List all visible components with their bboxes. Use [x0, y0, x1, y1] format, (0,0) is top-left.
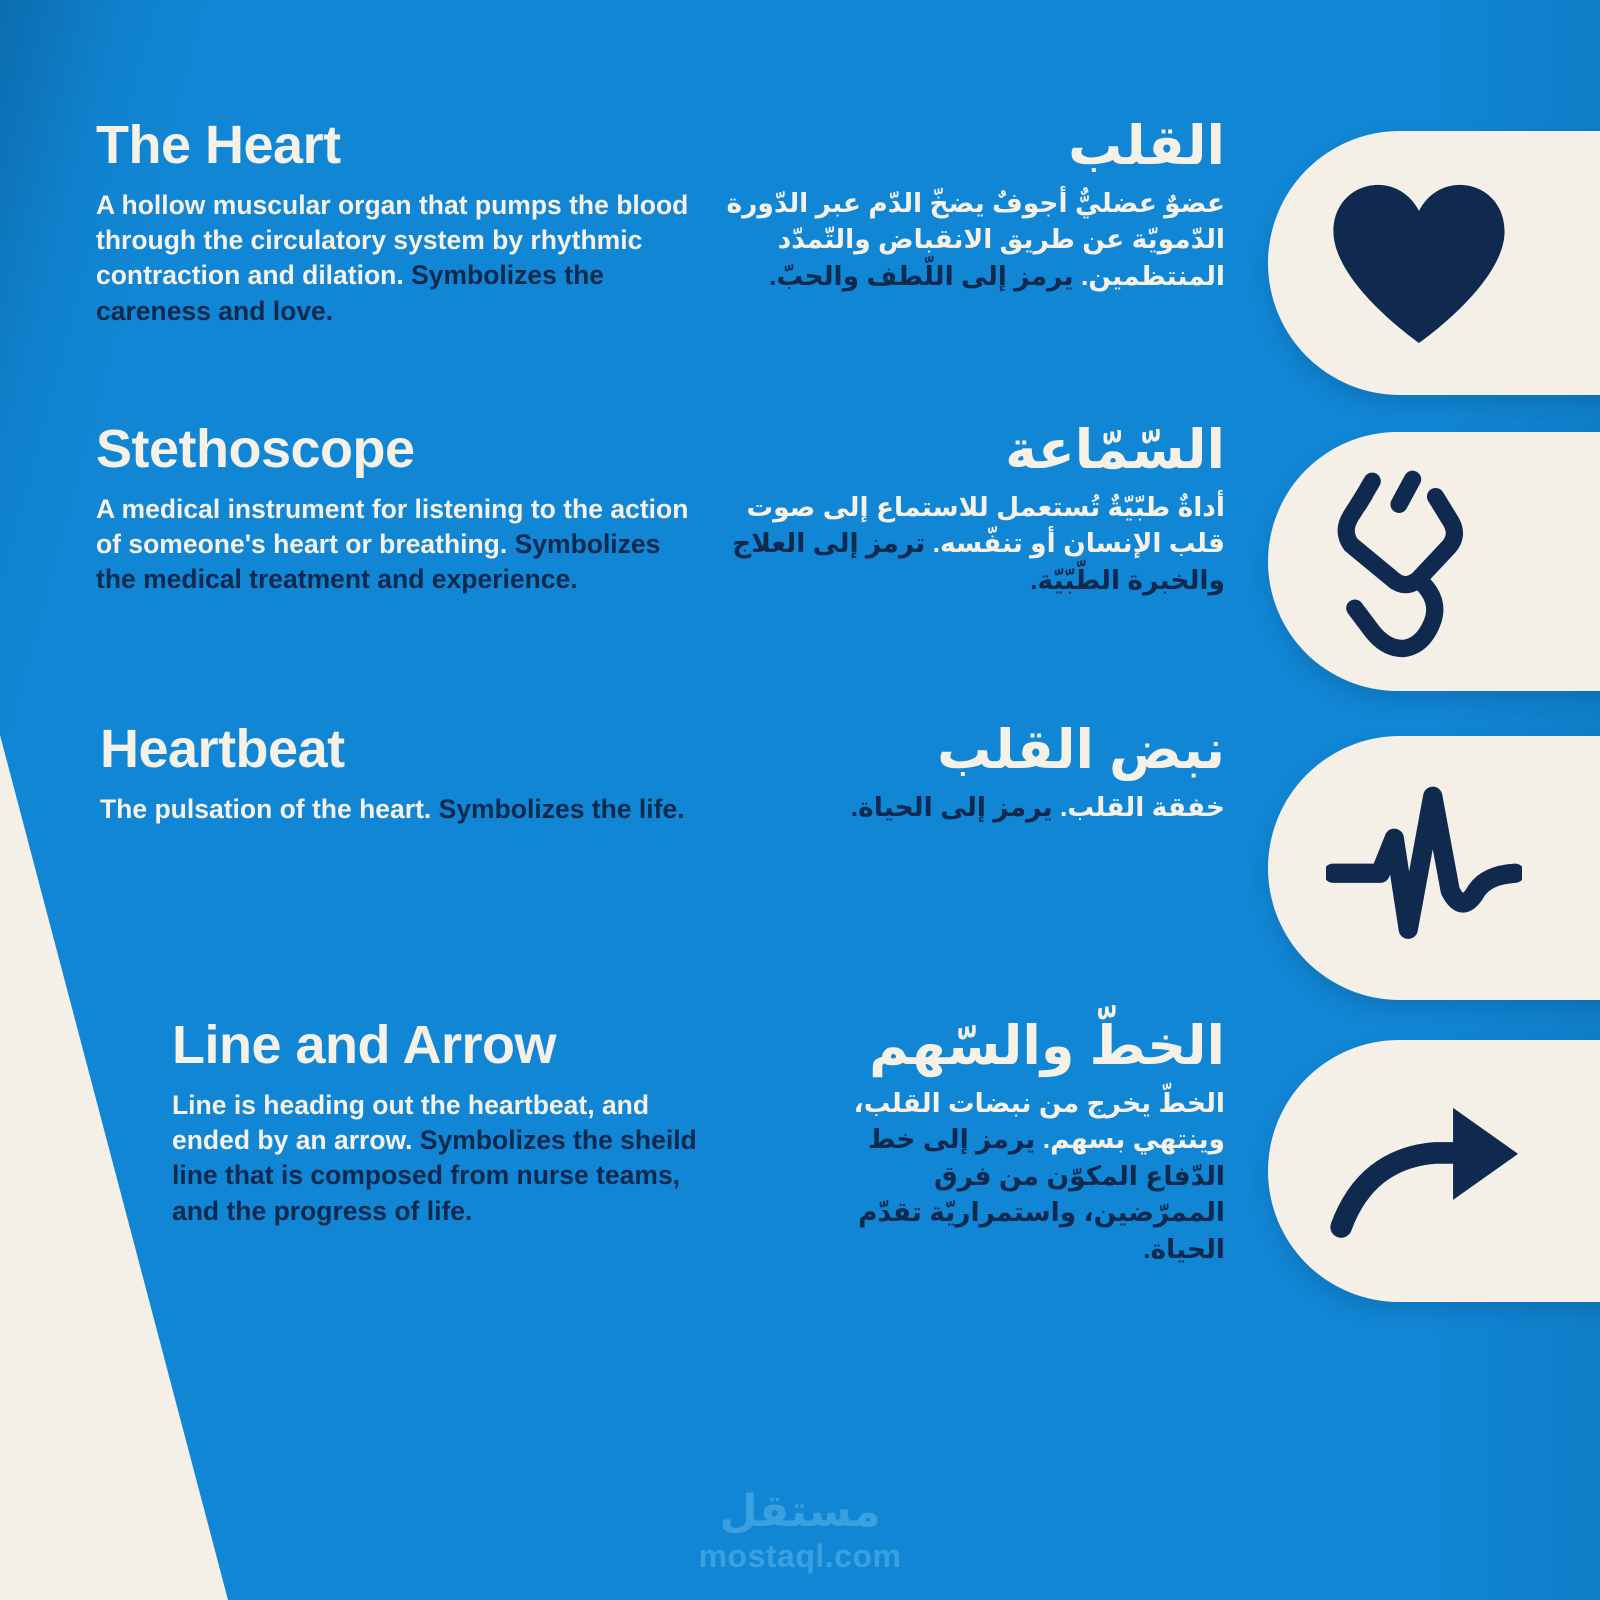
section-heart-ar: القلب عضوٌ عضليٌّ أجوفٌ يضخّ الدّم عبر ا…	[725, 118, 1225, 294]
heartbeat-icon	[1326, 782, 1522, 954]
icon-card-stethoscope	[1268, 432, 1600, 691]
heading-stethoscope: Stethoscope	[96, 422, 696, 476]
stethoscope-icon	[1326, 462, 1476, 662]
body-heartbeat-en: The pulsation of the heart. Symbolizes t…	[100, 792, 700, 827]
heading-the-heart-ar: القلب	[725, 118, 1225, 175]
section-line-arrow-ar: الخطّ والسّهم الخطّ يخرج من نبضات القلب،…	[795, 1018, 1225, 1268]
body-line-arrow-en: Line is heading out the heartbeat, and e…	[172, 1088, 717, 1229]
heading-line-and-arrow-ar: الخطّ والسّهم	[795, 1018, 1225, 1075]
body-the-heart-ar: عضوٌ عضليٌّ أجوفٌ يضخّ الدّم عبر الدّورة…	[725, 185, 1225, 295]
icon-card-heartbeat	[1268, 736, 1600, 1000]
body-dark-text-ar: يرمز إلى الحياة.	[851, 792, 1053, 822]
body-stethoscope-en: A medical instrument for listening to th…	[96, 492, 696, 598]
infographic-canvas: The Heart A hollow muscular organ that p…	[0, 0, 1600, 1600]
body-the-heart-en: A hollow muscular organ that pumps the b…	[96, 188, 696, 329]
heart-icon	[1326, 179, 1512, 347]
body-dark-text: Symbolizes the life.	[439, 794, 685, 824]
body-stethoscope-ar: أداةٌ طبّيّةٌ تُستعمل للاستماع إلى صوت ق…	[725, 489, 1225, 599]
body-dark-text-ar: يرمز إلى اللّطف والحبّ.	[769, 261, 1074, 291]
curved-arrow-icon	[1326, 1097, 1526, 1245]
heading-stethoscope-ar: السّمّاعة	[725, 422, 1225, 479]
heading-heartbeat-ar: نبض القلب	[725, 722, 1225, 779]
section-heartbeat-en: Heartbeat The pulsation of the heart. Sy…	[100, 722, 700, 827]
heading-heartbeat: Heartbeat	[100, 722, 700, 776]
icon-card-curved-arrow	[1268, 1040, 1600, 1302]
section-heartbeat-ar: نبض القلب خفقة القلب. يرمز إلى الحياة.	[725, 722, 1225, 825]
heading-the-heart: The Heart	[96, 118, 696, 172]
section-line-arrow-en: Line and Arrow Line is heading out the h…	[172, 1018, 717, 1229]
body-light-text-ar: خفقة القلب.	[1053, 792, 1225, 822]
body-light-text: The pulsation of the heart.	[100, 794, 439, 824]
body-line-arrow-ar: الخطّ يخرج من نبضات القلب، وينتهي بسهم. …	[795, 1085, 1225, 1268]
icon-card-heart	[1268, 131, 1600, 395]
heading-line-and-arrow: Line and Arrow	[172, 1018, 717, 1072]
body-heartbeat-ar: خفقة القلب. يرمز إلى الحياة.	[725, 789, 1225, 826]
section-heart-en: The Heart A hollow muscular organ that p…	[96, 118, 696, 329]
section-stethoscope-en: Stethoscope A medical instrument for lis…	[96, 422, 696, 598]
section-stethoscope-ar: السّمّاعة أداةٌ طبّيّةٌ تُستعمل للاستماع…	[725, 422, 1225, 598]
